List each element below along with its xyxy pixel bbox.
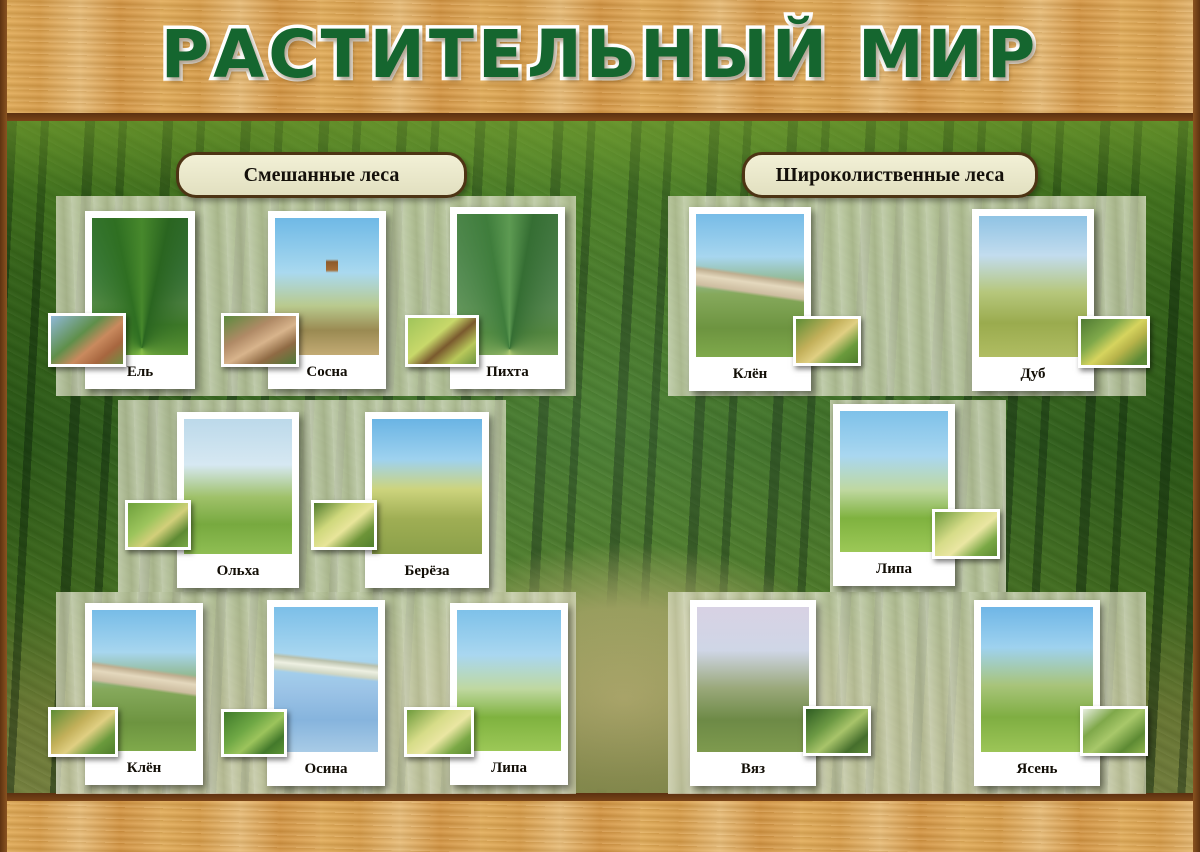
tree-card-birch[interactable]: Берёза	[365, 412, 489, 588]
frame-divider-top	[0, 113, 1200, 121]
detail-inset-fir-fruit	[405, 315, 479, 367]
tree-photo-alder	[184, 419, 292, 554]
detail-inset-elm-leaf	[803, 706, 871, 756]
tree-card-ash[interactable]: Ясень	[974, 600, 1100, 786]
detail-inset-alder-leaf	[125, 500, 191, 550]
tree-label-birch: Берёза	[372, 554, 482, 588]
tree-label-oak: Дуб	[979, 357, 1087, 391]
frame-edge-left	[0, 0, 7, 852]
wood-frame-bottom	[0, 800, 1200, 852]
tree-label-maple-broadleaf: Клён	[696, 357, 804, 391]
frame-divider-bottom	[0, 793, 1200, 801]
tree-card-oak[interactable]: Дуб	[972, 209, 1094, 391]
tree-card-elm[interactable]: Вяз	[690, 600, 816, 786]
tree-label-aspen: Осина	[274, 752, 378, 786]
poster-root: РАСТИТЕЛЬНЫЙ МИР Смешанные леса Широколи…	[0, 0, 1200, 852]
section-heading-mixed-forests: Смешанные леса	[176, 152, 467, 198]
detail-inset-maple-samara-broadleaf	[793, 316, 861, 366]
tree-card-linden-mixed[interactable]: Липа	[450, 603, 568, 785]
tree-card-alder[interactable]: Ольха	[177, 412, 299, 588]
tree-card-maple-mixed[interactable]: Клён	[85, 603, 203, 785]
frame-edge-right	[1193, 0, 1200, 852]
detail-inset-oak-acorn	[1078, 316, 1150, 368]
page-title: РАСТИТЕЛЬНЫЙ МИР	[0, 16, 1200, 93]
tree-label-ash: Ясень	[981, 752, 1093, 786]
tree-photo-birch	[372, 419, 482, 554]
tree-photo-ash	[981, 607, 1093, 752]
tree-photo-oak	[979, 216, 1087, 357]
tree-photo-aspen	[274, 607, 378, 752]
section-heading-broadleaf-forests: Широколиственные леса	[742, 152, 1038, 198]
detail-inset-ash-leaf	[1080, 706, 1148, 756]
tree-photo-elm	[697, 607, 809, 752]
tree-label-alder: Ольха	[184, 554, 292, 588]
detail-inset-pine-cone	[221, 313, 299, 367]
detail-inset-linden-flower-mixed	[404, 707, 474, 757]
detail-inset-aspen-leaf	[221, 709, 287, 757]
tree-card-aspen[interactable]: Осина	[267, 600, 385, 786]
detail-inset-birch-catkin	[311, 500, 377, 550]
detail-inset-spruce-cones	[48, 313, 126, 367]
detail-inset-linden-flower-broadleaf	[932, 509, 1000, 559]
detail-inset-maple-samara	[48, 707, 118, 757]
tree-photo-maple-broadleaf	[696, 214, 804, 357]
tree-label-elm: Вяз	[697, 752, 809, 786]
